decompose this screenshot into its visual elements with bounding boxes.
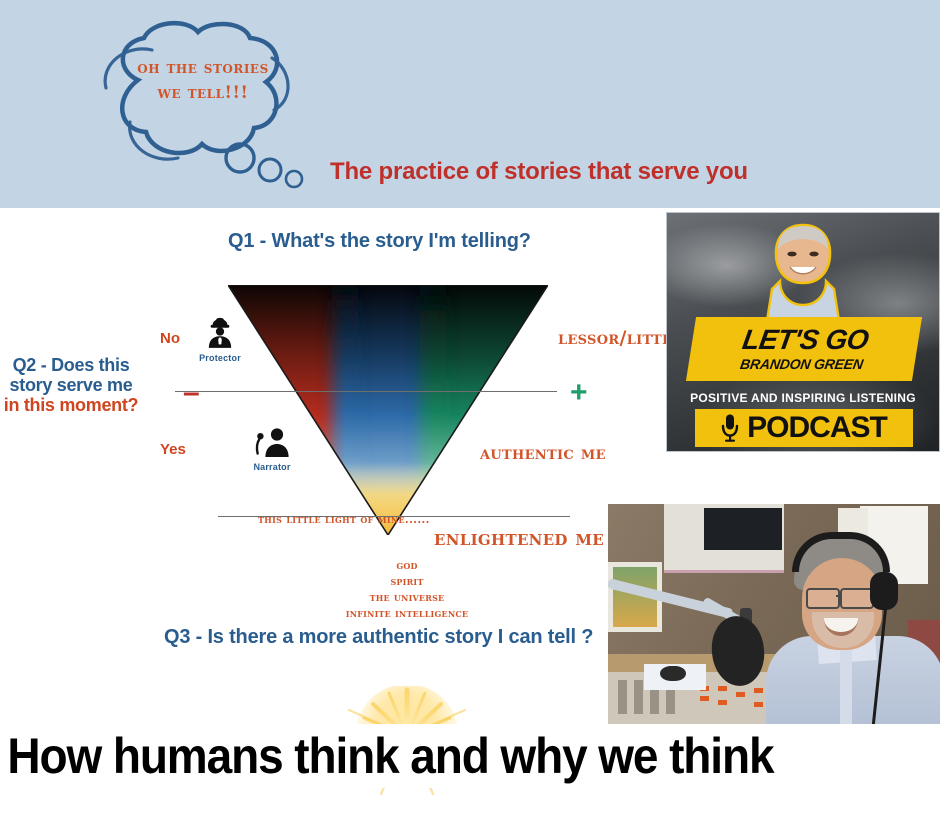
console-led [736, 692, 745, 697]
question-2-line3: in this moment? [0, 395, 146, 415]
header-tagline: The practice of stories that serve you [330, 158, 748, 186]
podcast-label-text: PODCAST [747, 413, 887, 443]
divine-item-spirit: Spirit [322, 574, 492, 590]
bottom-caption-bar: How humans think and why we think [0, 724, 940, 788]
headphones-band [792, 532, 890, 572]
divine-item-god: God [322, 558, 492, 574]
question-3-heading: Q3 - Is there a more authentic story I c… [164, 626, 593, 649]
axis-line-primary [175, 391, 557, 392]
host-glasses [806, 588, 840, 609]
radio-host-person [766, 536, 940, 732]
question-1-heading: Q1 - What's the story I'm telling? [228, 230, 531, 253]
radio-studio-photo[interactable] [608, 504, 940, 732]
podcast-title-line2: BRANDON GREEN [739, 356, 864, 373]
host-placket [840, 648, 852, 732]
console-led [700, 696, 709, 701]
divine-source-list: God Spirit The Universe Infinite Intelli… [322, 558, 492, 622]
divine-item-infinite: Infinite Intelligence [322, 606, 492, 622]
label-this-little-light: This Little Light of Mine...... [258, 513, 430, 526]
podcast-host-cutout [760, 223, 846, 327]
podcast-title-line1: LET'S GO [740, 326, 870, 354]
persona-protector: Protector [180, 316, 260, 363]
label-enlightened-me: Enlightened Me [434, 525, 604, 550]
console-fader [618, 680, 627, 714]
console-led [718, 686, 727, 691]
console-led [754, 688, 763, 693]
podcast-cover-image[interactable]: LET'S GO BRANDON GREEN POSITIVE AND INSP… [666, 212, 940, 452]
headphones-earcup [870, 572, 898, 610]
question-2-heading: Q2 - Does this story serve me in this mo… [0, 355, 146, 415]
microphone-icon [721, 413, 739, 443]
thought-bubble-logo [86, 18, 316, 193]
yes-label: Yes [160, 441, 186, 458]
question-2-line2: story serve me [0, 375, 146, 395]
person-with-microphone-icon [252, 427, 292, 459]
plus-sign-icon: + [570, 378, 588, 408]
console-led [754, 702, 763, 707]
computer-mouse [660, 666, 686, 681]
header-band: Oh The Stories We Tell!!! The practice o… [0, 0, 940, 208]
minus-sign-icon: – [183, 378, 200, 408]
logo-text-line1: Oh The Stories [118, 56, 288, 81]
no-label: No [160, 330, 180, 347]
inverted-triangle-spectrum [228, 285, 548, 535]
question-2-line1: Q2 - Does this [0, 355, 146, 375]
persona-narrator-label: Narrator [232, 462, 312, 472]
podcast-label-bar: PODCAST [695, 409, 913, 447]
podcast-subtitle: POSITIVE AND INSPIRING LISTENING [667, 391, 939, 405]
label-authentic-me: Authentic Me [480, 442, 606, 464]
host-glasses-bridge [836, 595, 842, 597]
persona-protector-label: Protector [180, 353, 260, 363]
logo-text-line2: We Tell!!! [118, 81, 288, 106]
podcast-title-text-group: LET'S GO BRANDON GREEN [686, 317, 922, 381]
bottom-caption-text: How humans think and why we think [0, 727, 773, 785]
console-fader [634, 680, 643, 714]
police-officer-icon [203, 316, 237, 350]
logo-bubble-text: Oh The Stories We Tell!!! [118, 56, 288, 105]
divine-item-universe: The Universe [322, 590, 492, 606]
host-glasses [840, 588, 874, 609]
console-led [718, 700, 727, 705]
persona-narrator: Narrator [232, 427, 312, 472]
diagram-area: Q1 - What's the story I'm telling? Q2 - … [0, 208, 940, 720]
